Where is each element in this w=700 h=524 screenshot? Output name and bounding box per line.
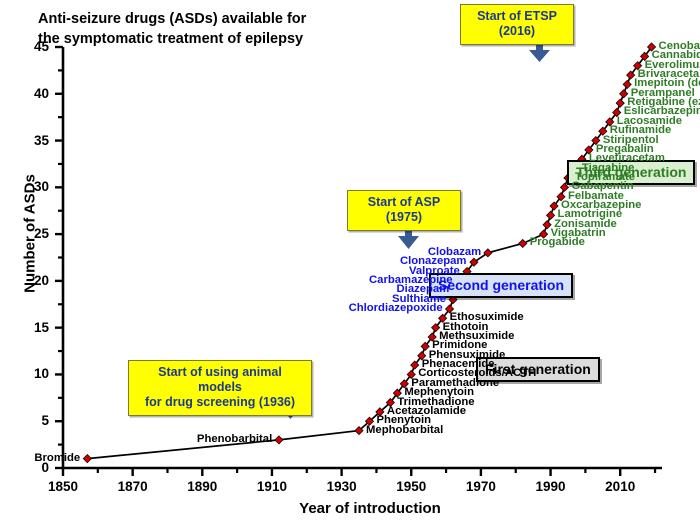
x-tick-label: 1990 [528, 479, 574, 494]
y-tick-label: 15 [15, 320, 49, 335]
y-tick-label: 10 [15, 366, 49, 381]
x-tick-label: 1930 [319, 479, 365, 494]
arrow-etsp [529, 42, 550, 62]
y-tick-label: 45 [15, 39, 49, 54]
drug-label: Phenobarbital [197, 434, 272, 445]
drug-label: Clobazam [428, 247, 481, 258]
x-tick-label: 1890 [179, 479, 225, 494]
chart-canvas: Anti-seizure drugs (ASDs) available for … [0, 0, 700, 524]
y-tick-label: 40 [15, 86, 49, 101]
callout-animal-models: Start of using animal models for drug sc… [128, 360, 312, 416]
callout-etsp: Start of ETSP (2016) [460, 4, 574, 45]
y-tick-label: 35 [15, 133, 49, 148]
drug-label: Ethosuximide [450, 312, 524, 323]
callout-asp: Start of ASP (1975) [347, 190, 461, 231]
x-tick-label: 1870 [110, 479, 156, 494]
plot-area [0, 0, 700, 524]
y-tick-label: 30 [15, 179, 49, 194]
x-tick-label: 2010 [597, 479, 643, 494]
y-tick-label: 0 [15, 460, 49, 475]
x-tick-label: 1910 [249, 479, 295, 494]
x-tick-label: 1950 [388, 479, 434, 494]
y-tick-label: 25 [15, 226, 49, 241]
x-tick-label: 1970 [458, 479, 504, 494]
y-tick-label: 20 [15, 273, 49, 288]
data-point-marker [519, 239, 527, 247]
data-point-marker [83, 455, 91, 463]
arrow-asp [398, 228, 419, 249]
drug-label: Cenobamate [659, 41, 700, 52]
x-tick-label: 1850 [40, 479, 86, 494]
y-tick-label: 5 [15, 413, 49, 428]
data-point-marker [275, 436, 283, 444]
